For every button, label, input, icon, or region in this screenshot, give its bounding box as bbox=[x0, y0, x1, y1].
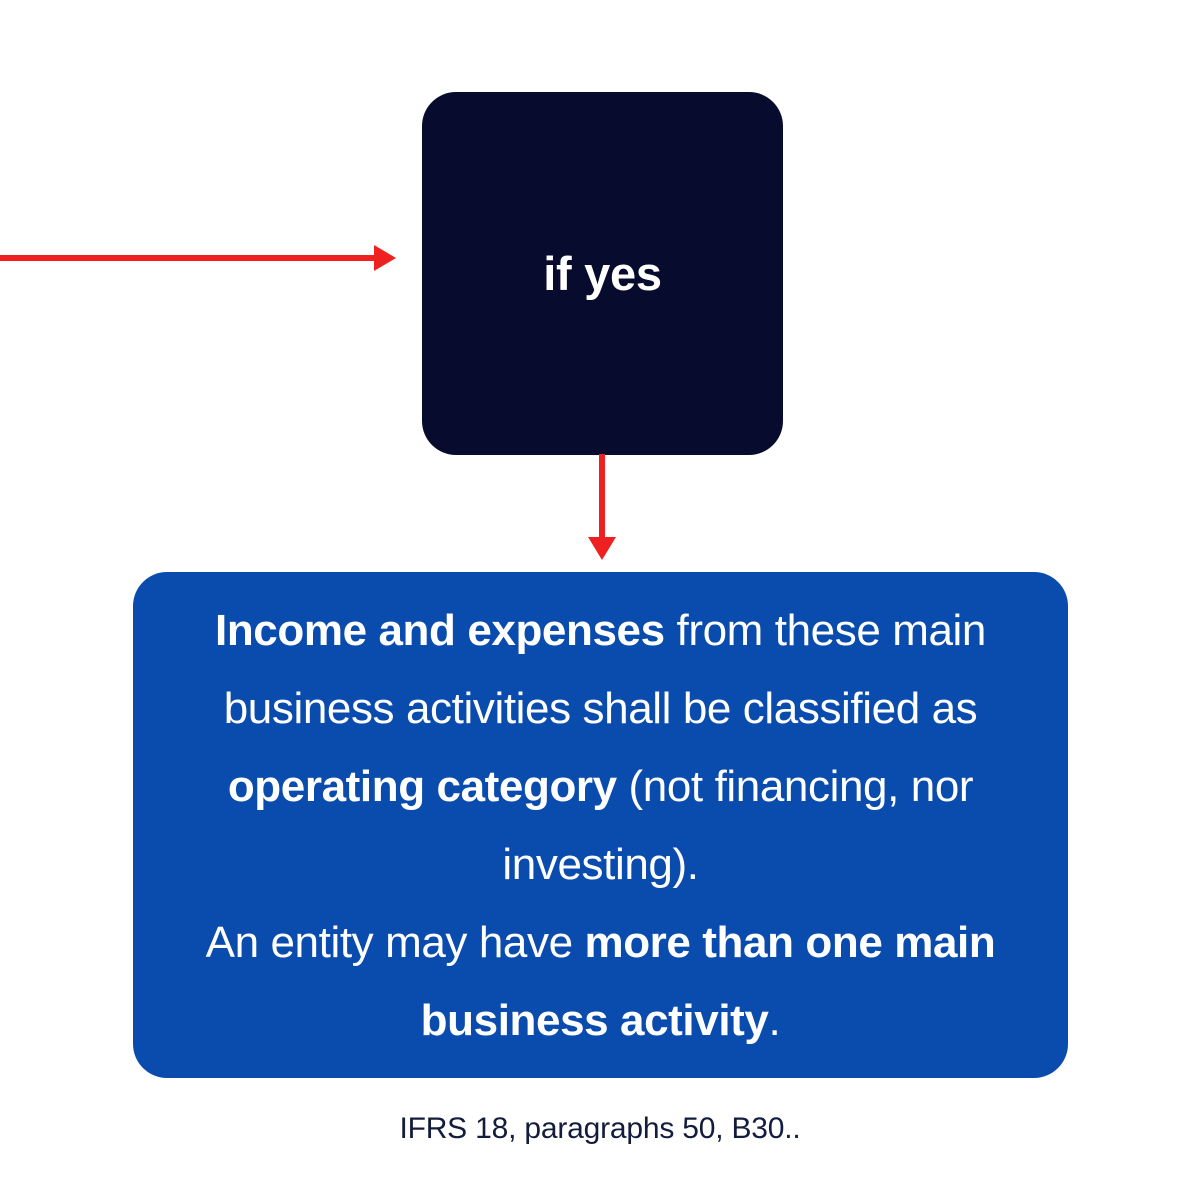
source-caption: IFRS 18, paragraphs 50, B30.. bbox=[0, 1112, 1200, 1146]
decision-node[interactable]: if yes bbox=[422, 92, 783, 455]
down-arrow bbox=[576, 450, 628, 566]
decision-node-label: if yes bbox=[543, 248, 661, 300]
outcome-paragraph-1: Income and expenses from these main busi… bbox=[169, 592, 1032, 904]
incoming-arrow bbox=[0, 232, 400, 284]
outcome-paragraph-2: An entity may have more than one main bu… bbox=[169, 904, 1032, 1060]
flow-diagram: if yes Income and expenses from these ma… bbox=[0, 0, 1200, 1200]
outcome-node[interactable]: Income and expenses from these main busi… bbox=[133, 572, 1068, 1078]
